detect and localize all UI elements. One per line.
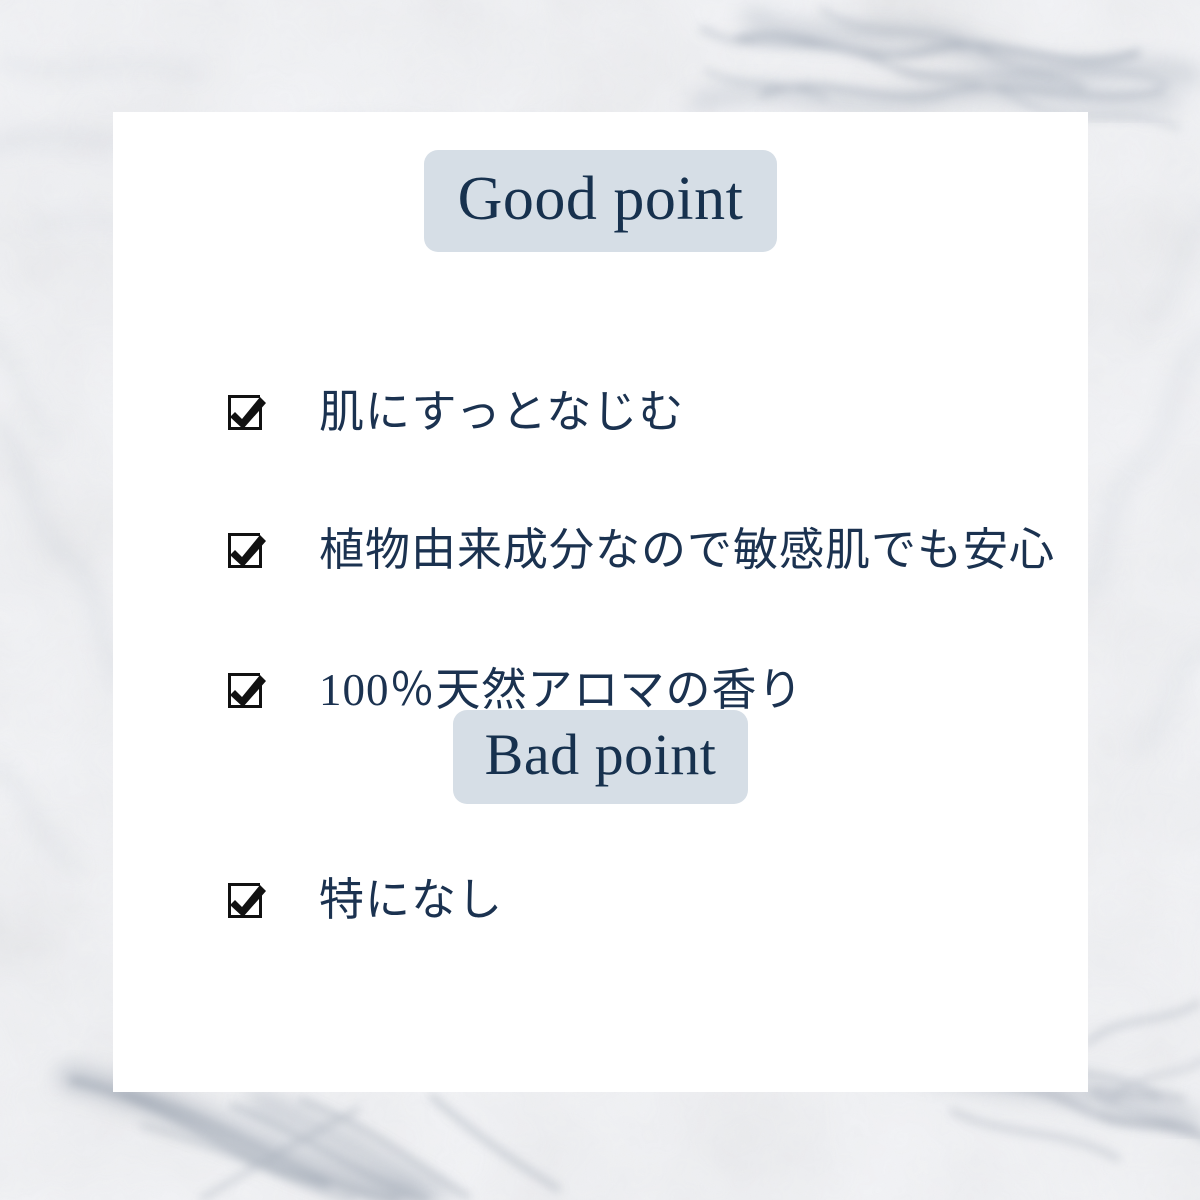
- good-point-item-1-label: 肌にすっとなじむ: [319, 388, 684, 438]
- card-content: Good point 肌にすっとなじむ: [113, 112, 1088, 1092]
- good-point-item-3-label: 100％天然アロマの香り: [319, 666, 804, 716]
- good-point-heading: Good point: [424, 150, 778, 252]
- page-stage: Good point 肌にすっとなじむ: [0, 0, 1200, 1200]
- bad-point-item-1: 特になし: [221, 875, 503, 927]
- content-card: Good point 肌にすっとなじむ: [113, 112, 1088, 1092]
- checkbox-checked-icon[interactable]: [221, 387, 273, 439]
- bad-point-heading: Bad point: [453, 710, 749, 804]
- good-point-item-2-label: 植物由来成分なので敏感肌でも安心: [319, 526, 1055, 576]
- bad-point-heading-row: Bad point: [113, 710, 1088, 804]
- good-point-item-1: 肌にすっとなじむ: [221, 387, 684, 439]
- checkbox-checked-icon[interactable]: [221, 875, 273, 927]
- bad-point-item-1-label: 特になし: [319, 876, 503, 926]
- good-point-heading-row: Good point: [113, 150, 1088, 252]
- good-point-item-2: 植物由来成分なので敏感肌でも安心: [221, 525, 1055, 577]
- checkbox-checked-icon[interactable]: [221, 525, 273, 577]
